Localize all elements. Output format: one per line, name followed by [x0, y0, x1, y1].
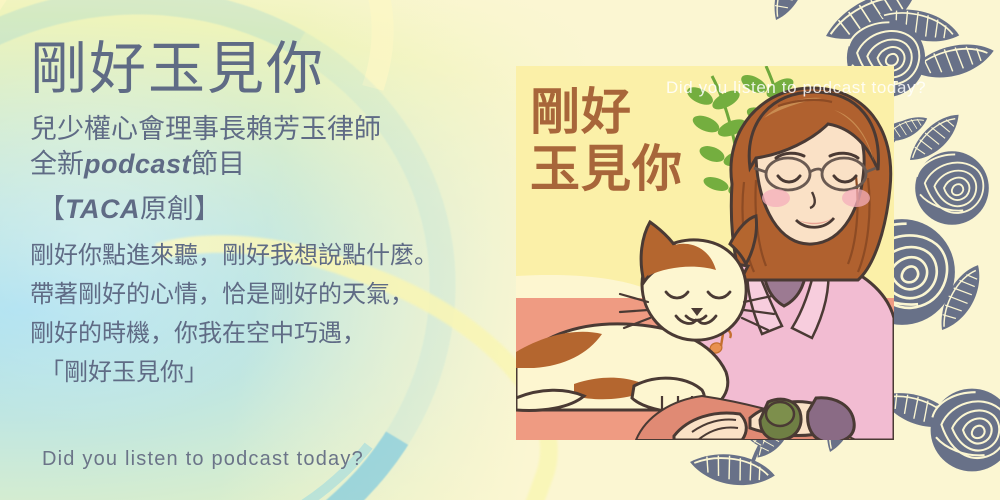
body-copy: 剛好你點進來聽，剛好我想說點什麼。 帶著剛好的心情，恰是剛好的天氣， 剛好的時機… — [30, 237, 530, 393]
page-title: 剛好玉見你 — [30, 40, 530, 98]
podcast-emphasis: podcast — [84, 149, 191, 179]
watermark-text: Did you listen to podcast today? — [666, 78, 926, 98]
podcast-cover-art[interactable]: 剛好 玉見你 — [516, 66, 894, 440]
taca-suffix: 原創】 — [140, 194, 221, 224]
taca-credit-line: 【TACA原創】 — [38, 192, 530, 227]
subtitle-suffix: 節目 — [191, 149, 245, 179]
promo-text-column: 剛好玉見你 兒少權心會理事長賴芳玉律師 全新podcast節目 【TACA原創】… — [30, 40, 530, 393]
subtitle-prefix: 全新 — [30, 149, 84, 179]
body-line-1: 剛好你點進來聽，剛好我想說點什麼。 — [30, 237, 530, 276]
cover-title-line-2: 玉見你 — [530, 141, 683, 198]
subtitle-line-2: 全新podcast節目 — [30, 147, 530, 182]
cover-title-line-1: 剛好 — [530, 84, 683, 141]
body-line-4: 「剛好玉見你」 — [40, 354, 530, 393]
body-line-3: 剛好的時機，你我在空中巧遇， — [30, 315, 530, 354]
taca-emphasis: TACA — [65, 194, 140, 224]
taca-bracket-open: 【 — [38, 194, 65, 224]
tagline: Did you listen to podcast today? — [42, 448, 364, 471]
podcast-promo-banner: 剛好玉見你 兒少權心會理事長賴芳玉律師 全新podcast節目 【TACA原創】… — [0, 0, 1000, 500]
subtitle-line-1: 兒少權心會理事長賴芳玉律師 — [30, 112, 530, 147]
cover-title: 剛好 玉見你 — [530, 84, 683, 198]
body-line-2: 帶著剛好的心情，恰是剛好的天氣， — [30, 276, 530, 315]
